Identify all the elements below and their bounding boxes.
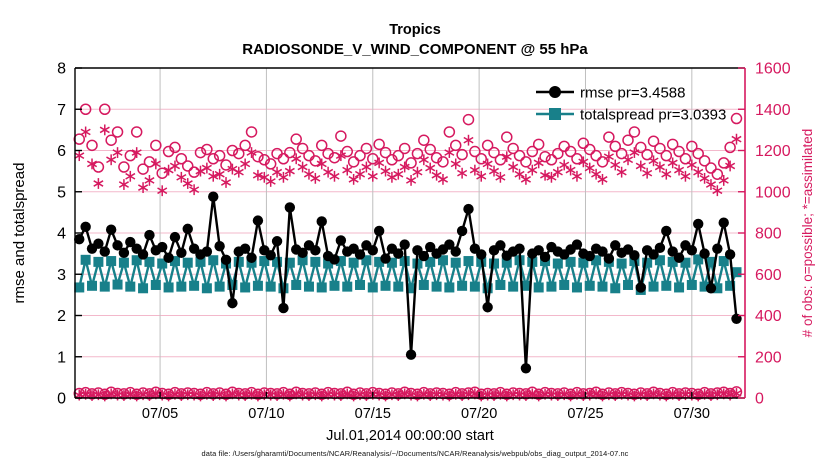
tick-label-right: 1000 [755,184,791,201]
marker-asterisk [553,390,562,401]
marker-circle-filled [100,246,110,256]
x-axis-label: Jul.01,2014 00:00:00 start [326,428,494,444]
marker-circle-filled [278,303,288,313]
marker-circle-filled [629,250,639,260]
marker-circle-filled [285,202,295,212]
marker-circle-open [534,139,544,149]
marker-circle-filled [176,248,186,258]
marker-circle-filled [636,282,646,292]
marker-square-filled [74,282,84,292]
marker-circle-filled [476,249,486,259]
marker-circle-open [125,151,135,161]
marker-circle-open [642,150,652,160]
marker-circle-filled [661,226,671,236]
marker-circle-open [578,138,588,148]
marker-square-filled [253,281,263,291]
marker-square-filled [585,281,595,291]
marker-circle-open [342,147,352,157]
marker-circle-open [495,155,505,165]
chart-page: Tropics RADIOSONDE_V_WIND_COMPONENT @ 55… [0,0,830,470]
marker-asterisk [617,167,626,178]
marker-circle-open [515,151,525,161]
y-axis-right-ticks: 02004006008001000120014001600 [738,61,791,408]
marker-circle-filled [693,219,703,229]
marker-circle-open [731,114,741,124]
marker-square-filled [202,283,212,293]
marker-square-filled [87,281,97,291]
marker-circle-filled [368,245,378,255]
tick-label-right: 1400 [755,102,791,119]
marker-square-filled [215,282,225,292]
legend-marker-circle [549,86,561,98]
marker-circle-open [74,134,84,144]
marker-circle-filled [119,248,129,258]
marker-asterisk [508,162,517,173]
marker-asterisk [75,390,84,401]
marker-circle-filled [572,239,582,249]
marker-circle-filled [183,224,193,234]
marker-square-filled [106,256,116,266]
tick-label-right: 400 [755,308,782,325]
marker-square-filled [610,283,620,293]
marker-square-filled [304,282,314,292]
marker-asterisk [292,153,301,164]
marker-circle-filled [393,248,403,258]
marker-asterisk [623,154,632,165]
marker-circle-filled [202,246,212,256]
marker-circle-filled [138,249,148,259]
marker-square-filled [534,282,544,292]
tick-label-x: 07/25 [567,406,603,422]
marker-asterisk [304,169,313,180]
marker-square-filled [81,255,91,265]
marker-asterisk [534,157,543,168]
marker-circle-open [119,162,129,172]
marker-square-filled [649,282,659,292]
marker-circle-open [591,151,601,161]
marker-square-filled [572,282,582,292]
tick-label-right: 600 [755,267,782,284]
marker-circle-open [502,132,512,142]
marker-circle-open [585,144,595,154]
plot-canvas: 0123456780200400600800100012001400160007… [0,0,830,470]
marker-circle-open [419,135,429,145]
marker-square-filled [419,280,429,290]
marker-square-filled [368,282,378,292]
marker-asterisk [126,171,135,182]
marker-circle-open [349,157,359,167]
marker-square-filled [151,280,161,290]
legend-label-0[interactable]: rmse pr=3.4588 [580,85,685,102]
marker-square-filled [393,282,403,292]
legend-marker-square [549,108,561,120]
marker-circle-open [202,144,212,154]
marker-asterisk [406,175,415,186]
marker-circle-open [240,140,250,150]
marker-circle-filled [355,249,365,259]
marker-asterisk [311,173,320,184]
marker-circle-open [361,143,371,153]
tick-label-x: 07/20 [461,406,497,422]
marker-asterisk [604,151,613,162]
marker-asterisk [413,167,422,178]
marker-circle-open [457,150,467,160]
marker-asterisk [368,171,377,182]
marker-circle-filled [310,245,320,255]
marker-square-filled [470,282,480,292]
marker-circle-filled [227,298,237,308]
marker-circle-filled [214,241,224,251]
marker-circle-open [195,148,205,158]
marker-asterisk [106,154,115,165]
marker-circle-filled [655,243,665,253]
marker-circle-filled [521,363,531,373]
marker-circle-filled [712,243,722,253]
marker-asterisk [464,135,473,146]
marker-square-filled [687,280,697,290]
marker-circle-filled [144,230,154,240]
marker-circle-filled [540,252,550,262]
marker-circle-open [559,141,569,151]
marker-square-filled [93,257,103,267]
marker-asterisk [662,169,671,180]
marker-circle-open [310,156,320,166]
series-assimilated [75,124,742,196]
marker-circle-open [253,152,263,162]
marker-asterisk [266,390,275,401]
marker-square-filled [463,256,473,266]
tick-label-x: 07/15 [355,406,391,422]
marker-asterisk [304,390,313,401]
marker-square-filled [674,282,684,292]
marker-circle-open [451,140,461,150]
marker-circle-filled [687,245,697,255]
marker-square-filled [240,282,250,292]
marker-asterisk [145,175,154,186]
marker-asterisk [438,174,447,185]
marker-circle-filled [329,254,339,264]
marker-asterisk [240,159,249,170]
marker-circle-filled [604,253,614,263]
marker-square-filled [349,258,359,268]
marker-circle-open [183,161,193,171]
marker-square-filled [183,258,193,268]
marker-circle-filled [495,240,505,250]
y-axis-left-ticks: 012345678 [57,61,82,408]
data-file-caption: data file: /Users/gharamti/Documents/NCA… [0,449,830,458]
marker-square-filled [457,281,467,291]
marker-circle-filled [265,250,275,260]
marker-circle-filled [157,242,167,252]
marker-circle-open [680,154,690,164]
marker-square-filled [342,282,352,292]
marker-circle-open [336,131,346,141]
marker-circle-open [661,151,671,161]
marker-circle-open [87,140,97,150]
marker-asterisk [636,161,645,172]
marker-circle-filled [374,226,384,236]
marker-square-filled [355,280,365,290]
marker-asterisk [151,159,160,170]
tick-label-right: 1600 [755,61,791,78]
marker-circle-filled [80,222,90,232]
legend: rmse pr=3.4588totalspread pr=3.0393 [536,85,726,124]
marker-circle-filled [457,226,467,236]
marker-square-filled [317,282,327,292]
marker-circle-open [572,154,582,164]
marker-asterisk [266,176,275,187]
marker-asterisk [630,147,639,158]
marker-circle-open [406,158,416,168]
marker-circle-filled [399,239,409,249]
marker-asterisk [687,160,696,171]
marker-asterisk [100,124,109,135]
marker-square-filled [559,280,569,290]
marker-square-filled [119,258,129,268]
tick-label-x: 07/10 [248,406,284,422]
marker-square-filled [546,282,556,292]
marker-circle-filled [106,225,116,235]
marker-asterisk [330,171,339,182]
marker-asterisk [330,390,339,401]
marker-circle-open [151,140,161,150]
marker-circle-open [400,143,410,153]
tick-label-left: 1 [57,349,66,366]
marker-circle-open [712,169,722,179]
marker-square-filled [113,280,123,290]
marker-circle-open [463,115,473,125]
tick-label-right: 800 [755,226,782,243]
marker-square-filled [310,257,320,267]
marker-asterisk [426,163,435,174]
marker-circle-open [546,155,556,165]
marker-circle-open [247,127,257,137]
marker-asterisk [483,159,492,170]
marker-asterisk [158,185,167,196]
marker-circle-open [215,151,225,161]
marker-circle-open [113,127,123,137]
marker-circle-filled [674,253,684,263]
marker-circle-open [706,163,716,173]
marker-circle-open [132,127,142,137]
marker-square-filled [329,281,339,291]
marker-square-filled [291,280,301,290]
marker-circle-filled [208,192,218,202]
marker-asterisk [234,167,243,178]
tick-label-left: 6 [57,143,66,160]
marker-circle-filled [699,248,709,258]
marker-square-filled [138,283,148,293]
marker-circle-filled [272,236,282,246]
marker-asterisk [94,178,103,189]
marker-circle-filled [419,251,429,261]
marker-square-filled [661,281,671,291]
legend-label-1[interactable]: totalspread pr=3.0393 [580,107,726,124]
marker-circle-open [93,162,103,172]
y-axis-left-label: rmse and totalspread [11,163,28,304]
tick-label-right: 1200 [755,143,791,160]
marker-circle-open [208,154,218,164]
marker-square-filled [189,281,199,291]
marker-square-filled [508,282,518,292]
marker-square-filled [125,282,135,292]
marker-circle-open [629,127,639,137]
marker-square-filled [597,282,607,292]
marker-circle-open [604,132,614,142]
y-axis-right-label: # of obs: o=possible; *=assimilated [800,129,815,338]
marker-square-filled [617,259,627,269]
marker-square-filled [432,282,442,292]
marker-square-filled [495,280,505,290]
tick-label-left: 3 [57,267,66,284]
marker-asterisk [113,147,122,158]
marker-asterisk [611,160,620,171]
marker-circle-open [278,154,288,164]
marker-circle-filled [253,215,263,225]
marker-square-filled [623,280,633,290]
marker-square-filled [266,282,276,292]
marker-circle-filled [336,235,346,245]
tick-label-left: 2 [57,308,66,325]
marker-circle-filled [482,302,492,312]
marker-circle-filled [240,243,250,253]
tick-label-left: 5 [57,184,66,201]
tick-label-x: 07/05 [142,406,178,422]
marker-asterisk [394,169,403,180]
marker-circle-filled [246,253,256,263]
marker-circle-filled [706,283,716,293]
marker-circle-open [304,151,314,161]
marker-circle-filled [170,232,180,242]
marker-asterisk [419,154,428,165]
marker-asterisk [221,177,230,188]
marker-asterisk [75,150,84,161]
marker-asterisk [547,390,556,401]
marker-circle-open [221,160,231,170]
marker-asterisk [432,170,441,181]
marker-square-filled [164,282,174,292]
marker-circle-filled [463,204,473,214]
marker-circle-filled [406,349,416,359]
marker-circle-filled [514,243,524,253]
tick-label-left: 7 [57,102,66,119]
marker-circle-open [719,158,729,168]
marker-asterisk [719,175,728,186]
marker-circle-filled [719,217,729,227]
marker-asterisk [515,390,524,401]
tick-label-right: 0 [755,391,764,408]
tick-label-left: 4 [57,226,66,243]
marker-circle-filled [317,216,327,226]
marker-asterisk [457,168,466,179]
tick-label-right: 200 [755,349,782,366]
tick-label-x: 07/30 [674,406,710,422]
marker-circle-open [285,148,295,158]
tick-label-left: 0 [57,391,66,408]
marker-square-filled [176,282,186,292]
marker-square-filled [208,255,218,265]
marker-circle-filled [451,246,461,256]
marker-square-filled [444,282,454,292]
marker-square-filled [100,282,110,292]
marker-circle-open [157,168,167,178]
marker-asterisk [323,167,332,178]
marker-circle-filled [163,253,173,263]
marker-asterisk [202,163,211,174]
marker-square-filled [381,281,391,291]
marker-circle-filled [725,249,735,259]
series-rmse [74,192,742,374]
marker-circle-open [444,127,454,137]
marker-asterisk [451,159,460,170]
tick-label-left: 8 [57,61,66,78]
marker-asterisk [119,179,128,190]
marker-square-filled [553,259,563,269]
marker-circle-open [540,152,550,162]
marker-circle-filled [221,255,231,265]
marker-asterisk [298,162,307,173]
marker-circle-open [291,134,301,144]
marker-circle-open [521,157,531,167]
marker-square-filled [451,258,461,268]
marker-asterisk [642,168,651,179]
marker-circle-filled [380,253,390,263]
